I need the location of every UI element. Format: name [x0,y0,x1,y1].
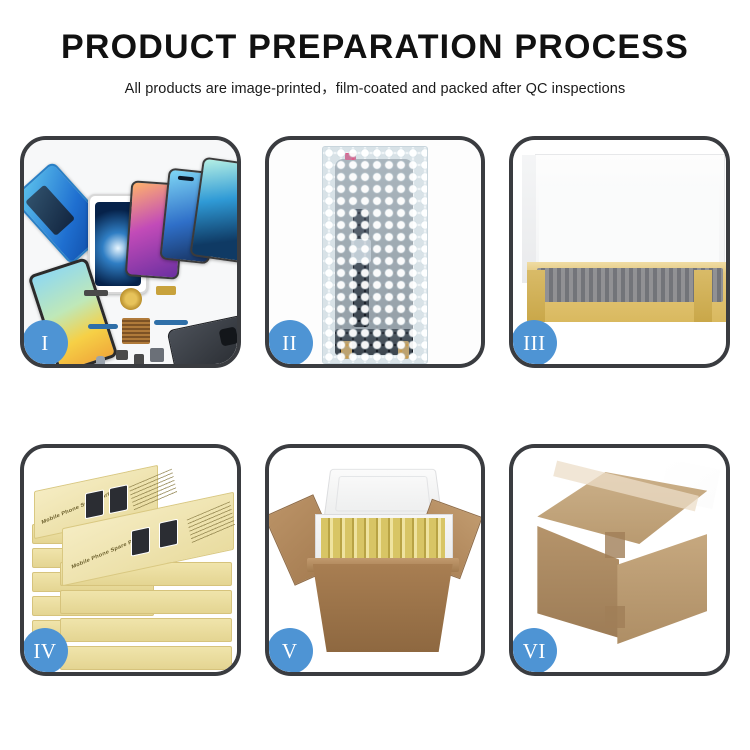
tray-end-right [694,270,712,322]
bubble-texture [323,147,427,363]
process-step-5: V [253,440,498,680]
process-step-grid: I II [0,132,750,692]
box-window-front-b [159,519,178,549]
step-2-badge: II [267,320,313,366]
process-step-2: II [253,132,498,372]
carton-body [313,564,453,652]
speaker-coil-part [120,288,142,310]
flex-cable-left [88,324,118,329]
step-6-badge: VI [511,628,557,674]
packed-retail-boxes [321,518,445,562]
step-6-frame: VI [509,444,730,676]
carton-right-face [617,534,707,644]
small-part-c [96,356,105,364]
step-3-badge: III [511,320,557,366]
process-step-4: Mobile Phone Spare Parts Mobile Phone Sp… [8,440,253,680]
box-window-front-a [131,527,150,557]
box-front-3 [60,618,232,642]
box-window-rear-a [85,489,104,519]
step-2-frame: II [265,136,486,368]
box-window-rear-b [109,484,128,514]
step-5-badge: V [267,628,313,674]
step-1-badge: I [22,320,68,366]
box-front-4 [60,646,232,670]
small-part-d [150,348,164,362]
step-3-frame: III [509,136,730,368]
page-title: PRODUCT PREPARATION PROCESS [0,30,750,66]
chip-array-part [122,318,150,344]
box-front-2 [60,590,232,614]
small-part-a [116,350,128,360]
process-step-6: VI [497,440,742,680]
step-1-frame: I [20,136,241,368]
gold-flex-part [156,286,176,295]
box-spec-lines-front [187,501,235,544]
flex-cable-right [154,320,188,325]
small-part-bar [84,290,108,296]
step-5-frame: V [265,444,486,676]
carton-tab-top [605,532,625,558]
bubble-wrap-bag [322,146,428,364]
carton-tab-bottom [605,606,625,628]
page-subtitle: All products are image-printed，film-coat… [0,77,750,98]
page-header: PRODUCT PREPARATION PROCESS All products… [0,0,750,98]
small-part-b [134,354,144,364]
foam-box-lid [323,469,442,520]
process-step-1: I [8,132,253,372]
step-4-frame: Mobile Phone Spare Parts Mobile Phone Sp… [20,444,241,676]
process-step-3: III [497,132,742,372]
tray-end-left [527,270,545,322]
step-4-badge: IV [22,628,68,674]
